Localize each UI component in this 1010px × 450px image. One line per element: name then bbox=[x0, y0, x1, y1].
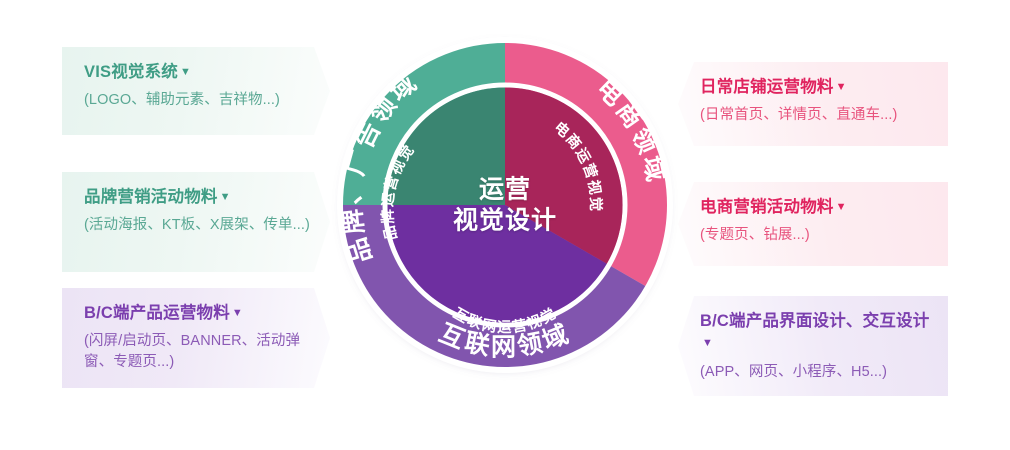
left-card-vis-system-sub: (LOGO、辅助元素、吉祥物...) bbox=[84, 90, 312, 111]
chevron-down-icon[interactable]: ▼ bbox=[232, 307, 243, 319]
right-card-daily-shop-title: 日常店铺运营物料▼ bbox=[700, 76, 930, 98]
left-card-vis-system[interactable]: VIS视觉系统▼ (LOGO、辅助元素、吉祥物...) bbox=[62, 47, 330, 135]
chevron-down-icon[interactable]: ▼ bbox=[702, 337, 713, 349]
infographic-canvas: VIS视觉系统▼ (LOGO、辅助元素、吉祥物...) 品牌营销活动物料▼ (活… bbox=[0, 0, 1010, 450]
chevron-down-icon[interactable]: ▼ bbox=[836, 81, 847, 93]
left-card-brand-marketing-sub: (活动海报、KT板、X展架、传单...) bbox=[84, 215, 312, 236]
left-card-vis-system-title: VIS视觉系统▼ bbox=[84, 61, 312, 83]
right-card-bc-ui-interaction-title-text: B/C端产品界面设计、交互设计 bbox=[700, 312, 929, 330]
left-card-bc-product-material[interactable]: B/C端产品运营物料▼ (闪屏/启动页、BANNER、活动弹窗、专题页...) bbox=[62, 288, 330, 388]
left-card-brand-marketing-title: 品牌营销活动物料▼ bbox=[84, 186, 312, 208]
left-card-brand-marketing[interactable]: 品牌营销活动物料▼ (活动海报、KT板、X展架、传单...) bbox=[62, 172, 330, 272]
right-card-ecommerce-marketing-title-text: 电商营销活动物料 bbox=[700, 198, 834, 216]
right-card-bc-ui-interaction-title: B/C端产品界面设计、交互设计▼ bbox=[700, 310, 930, 355]
chevron-down-icon[interactable]: ▼ bbox=[180, 66, 191, 78]
right-card-ecommerce-marketing-sub: (专题页、钻展...) bbox=[700, 225, 930, 246]
chevron-down-icon[interactable]: ▼ bbox=[220, 191, 231, 203]
left-card-brand-marketing-title-text: 品牌营销活动物料 bbox=[84, 188, 218, 206]
left-card-bc-product-material-title: B/C端产品运营物料▼ bbox=[84, 302, 312, 324]
left-card-bc-product-material-sub: (闪屏/启动页、BANNER、活动弹窗、专题页...) bbox=[84, 331, 312, 373]
donut-svg: 品牌、广告领域 电商领域 互联网领域 品牌运营视觉 电商运营视觉 互联网运营视觉 bbox=[320, 20, 690, 390]
right-card-daily-shop-sub: (日常首页、详情页、直通车...) bbox=[700, 105, 930, 126]
left-card-bc-product-material-title-text: B/C端产品运营物料 bbox=[84, 304, 230, 322]
segmented-donut-chart: 品牌、广告领域 电商领域 互联网领域 品牌运营视觉 电商运营视觉 互联网运营视觉… bbox=[320, 20, 690, 390]
chevron-down-icon[interactable]: ▼ bbox=[836, 201, 847, 213]
right-card-bc-ui-interaction-sub: (APP、网页、小程序、H5...) bbox=[700, 362, 930, 383]
left-card-vis-system-title-text: VIS视觉系统 bbox=[84, 63, 178, 81]
right-card-ecommerce-marketing-title: 电商营销活动物料▼ bbox=[700, 196, 930, 218]
right-card-daily-shop-title-text: 日常店铺运营物料 bbox=[700, 78, 834, 96]
right-card-daily-shop[interactable]: 日常店铺运营物料▼ (日常首页、详情页、直通车...) bbox=[678, 62, 948, 146]
right-card-ecommerce-marketing[interactable]: 电商营销活动物料▼ (专题页、钻展...) bbox=[678, 182, 948, 266]
right-card-bc-ui-interaction[interactable]: B/C端产品界面设计、交互设计▼ (APP、网页、小程序、H5...) bbox=[678, 296, 948, 396]
